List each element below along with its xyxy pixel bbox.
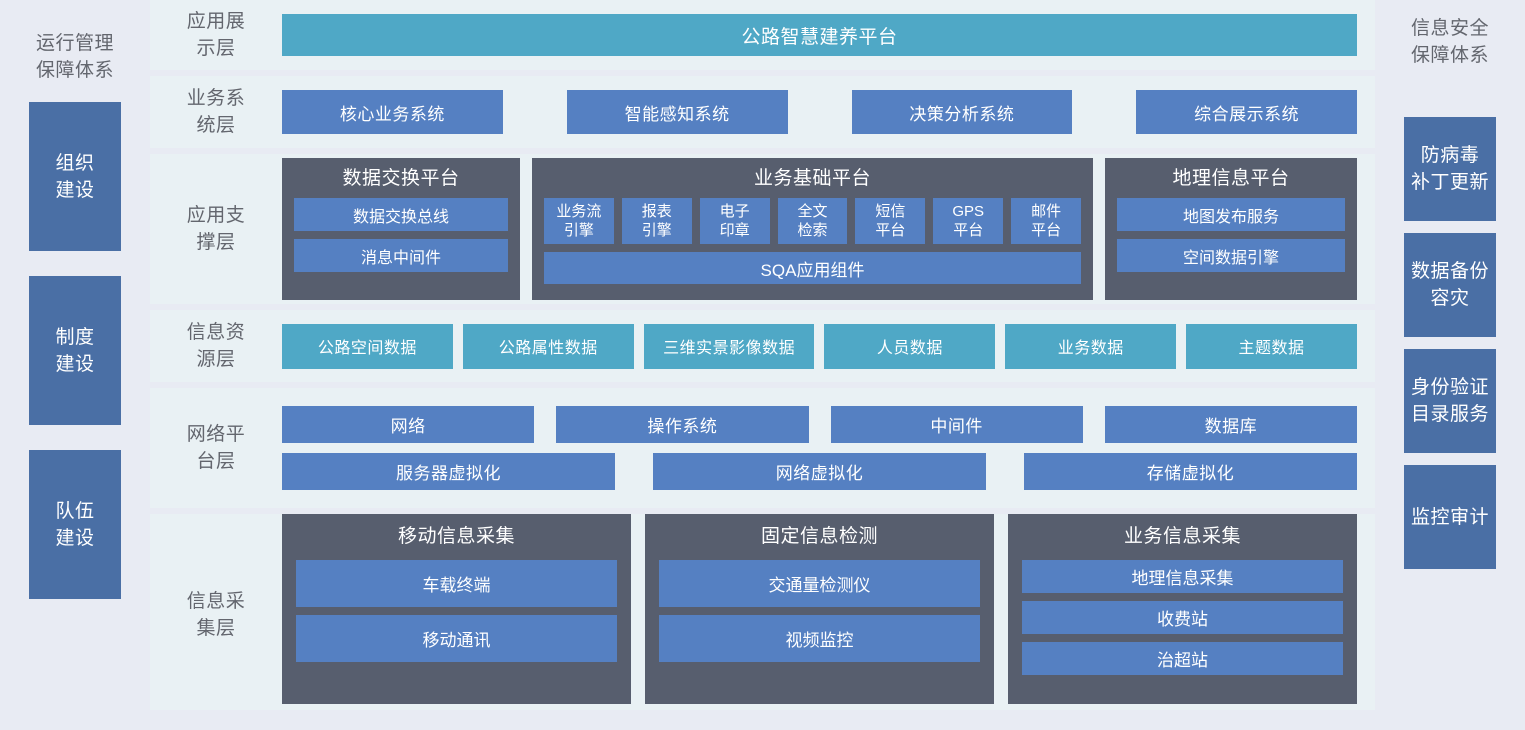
overload-control-station[interactable]: 治超站 [1022,642,1343,675]
spatial-data-engine[interactable]: 空间数据引擎 [1117,239,1345,272]
engine-electronic-seal[interactable]: 电子 印章 [700,198,770,244]
layer-label-line1: 网络平 [150,421,282,448]
layer-label-line1: 信息采 [150,588,282,615]
left-box-organization[interactable]: 组织 建设 [29,102,121,251]
resource-theme-data[interactable]: 主题数据 [1186,324,1357,369]
layer-label-line2: 集层 [150,615,282,642]
video-surveillance[interactable]: 视频监控 [659,615,980,662]
layer-label-line1: 应用展 [150,8,282,35]
business-system-decision[interactable]: 决策分析系统 [852,90,1073,134]
engine-mail-platform[interactable]: 邮件 平台 [1011,198,1081,244]
panel-fixed-detection: 固定信息检测 交通量检测仪 视频监控 [645,514,994,704]
panel-title-fixed-detection: 固定信息检测 [659,524,980,550]
engine-workflow[interactable]: 业务流 引擎 [544,198,614,244]
left-support-column: 运行管理 保障体系 组织 建设 制度 建设 队伍 建设 [0,0,150,730]
engine-electronic-seal-line2: 印章 [720,221,750,240]
application-display-row: 公路智慧建养平台 [282,14,1357,56]
data-exchange-bus[interactable]: 数据交换总线 [294,198,508,231]
layer-label-line2: 统层 [150,112,282,139]
business-system-sensing[interactable]: 智能感知系统 [567,90,788,134]
engine-fulltext-search[interactable]: 全文 检索 [778,198,848,244]
left-box-team-line1: 队伍 [55,498,94,525]
panel-business-base-platform: 业务基础平台 业务流 引擎 报表 引擎 [532,158,1093,300]
right-box-backup-disaster-recovery-line1: 数据备份 [1411,258,1489,285]
right-box-antivirus-patch-line1: 防病毒 [1411,142,1489,169]
panel-business-collection: 业务信息采集 地理信息采集 收费站 治超站 [1008,514,1357,704]
layer-label-business-system: 业务系 统层 [150,85,282,139]
layer-network-platform: 网络平 台层 网络 操作系统 中间件 数据库 服务器虚拟化 网络虚拟化 存储虚拟… [150,388,1375,508]
network-platform-row-1: 网络 操作系统 中间件 数据库 [282,406,1357,443]
panel-data-exchange-platform: 数据交换平台 数据交换总线 消息中间件 [282,158,520,300]
engine-fulltext-search-line1: 全文 [798,202,828,221]
engine-gps-platform[interactable]: GPS 平台 [933,198,1003,244]
panel-title-business-base: 业务基础平台 [544,166,1081,192]
panel-title-gis: 地理信息平台 [1117,166,1345,192]
gis-items: 地图发布服务 空间数据引擎 [1117,198,1345,288]
layer-label-line1: 信息资 [150,319,282,346]
network-item-middleware[interactable]: 中间件 [831,406,1083,443]
layer-body-application-display: 公路智慧建养平台 [282,14,1375,56]
business-system-core[interactable]: 核心业务系统 [282,90,503,134]
resource-business-data[interactable]: 业务数据 [1005,324,1176,369]
geographic-information-collection[interactable]: 地理信息采集 [1022,560,1343,593]
engine-fulltext-search-line2: 检索 [798,221,828,240]
business-base-engines: 业务流 引擎 报表 引擎 [544,198,1081,244]
engine-report-line2: 引擎 [642,221,672,240]
panel-title-data-exchange: 数据交换平台 [294,166,508,192]
engine-report-line1: 报表 [642,202,672,221]
message-middleware[interactable]: 消息中间件 [294,239,508,272]
left-box-organization-line2: 建设 [55,177,94,204]
right-box-antivirus-patch[interactable]: 防病毒 补丁更新 [1404,117,1496,221]
engine-gps-platform-line2: 平台 [952,221,984,240]
right-column-title: 信息安全 保障体系 [1411,15,1489,69]
engine-sms-platform[interactable]: 短信 平台 [855,198,925,244]
left-box-team-line2: 建设 [55,525,94,552]
left-column-title-line2: 保障体系 [36,57,114,84]
network-item-operating-system[interactable]: 操作系统 [556,406,808,443]
data-exchange-items: 数据交换总线 消息中间件 [294,198,508,288]
layer-label-line2: 撑层 [150,229,282,256]
network-item-storage-virtualization[interactable]: 存储虚拟化 [1024,453,1357,490]
right-box-identity-directory[interactable]: 身份验证 目录服务 [1404,349,1496,453]
network-item-database[interactable]: 数据库 [1105,406,1357,443]
engine-sms-platform-line1: 短信 [875,202,905,221]
business-system-display[interactable]: 综合展示系统 [1136,90,1357,134]
architecture-diagram: 运行管理 保障体系 组织 建设 制度 建设 队伍 建设 [0,0,1525,730]
right-box-monitoring-audit[interactable]: 监控审计 [1404,465,1496,569]
layer-body-network-platform: 网络 操作系统 中间件 数据库 服务器虚拟化 网络虚拟化 存储虚拟化 [282,406,1375,490]
network-item-network[interactable]: 网络 [282,406,534,443]
right-box-antivirus-patch-line2: 补丁更新 [1411,169,1489,196]
layer-business-system: 业务系 统层 核心业务系统 智能感知系统 决策分析系统 综合展示系统 [150,76,1375,148]
application-support-panels: 数据交换平台 数据交换总线 消息中间件 业务基础平台 业务流 [282,158,1357,300]
left-box-team[interactable]: 队伍 建设 [29,450,121,599]
right-security-column: 信息安全 保障体系 防病毒 补丁更新 数据备份 容灾 身份验证 目录服务 监控审… [1375,0,1525,730]
layer-information-resource: 信息资 源层 公路空间数据 公路属性数据 三维实景影像数据 人员数据 业务数据 … [150,310,1375,382]
map-publish-service[interactable]: 地图发布服务 [1117,198,1345,231]
engine-mail-platform-line1: 邮件 [1031,202,1061,221]
layer-label-information-resource: 信息资 源层 [150,319,282,373]
layer-label-line2: 示层 [150,35,282,62]
business-system-row: 核心业务系统 智能感知系统 决策分析系统 综合展示系统 [282,90,1357,134]
layer-body-information-collection: 移动信息采集 车载终端 移动通讯 固定信息检测 交通量检测仪 视频监控 [282,514,1375,704]
panel-title-business-collection: 业务信息采集 [1022,524,1343,550]
left-box-institution-line1: 制度 [55,324,94,351]
layer-label-application-support: 应用支 撑层 [150,202,282,256]
left-column-title: 运行管理 保障体系 [36,30,114,84]
left-box-institution-line2: 建设 [55,351,94,378]
right-box-backup-disaster-recovery-line2: 容灾 [1411,285,1489,312]
layer-label-network-platform: 网络平 台层 [150,421,282,475]
engine-report[interactable]: 报表 引擎 [622,198,692,244]
layer-application-support: 应用支 撑层 数据交换平台 数据交换总线 消息中间件 业务基础平台 [150,154,1375,304]
right-box-identity-directory-line1: 身份验证 [1411,374,1489,401]
layer-label-application-display: 应用展 示层 [150,8,282,62]
layer-label-line1: 应用支 [150,202,282,229]
layer-body-application-support: 数据交换平台 数据交换总线 消息中间件 业务基础平台 业务流 [282,158,1375,300]
panel-title-mobile-collection: 移动信息采集 [296,524,617,550]
layer-label-information-collection: 信息采 集层 [150,514,282,642]
traffic-volume-detector[interactable]: 交通量检测仪 [659,560,980,607]
engine-mail-platform-line2: 平台 [1031,221,1061,240]
business-collection-items: 地理信息采集 收费站 治超站 [1022,560,1343,690]
information-collection-panels: 移动信息采集 车载终端 移动通讯 固定信息检测 交通量检测仪 视频监控 [282,514,1357,704]
network-platform-row-2: 服务器虚拟化 网络虚拟化 存储虚拟化 [282,453,1357,490]
engine-gps-platform-line1: GPS [952,202,984,221]
left-box-organization-line1: 组织 [55,150,94,177]
resource-highway-spatial-data[interactable]: 公路空间数据 [282,324,453,369]
right-box-backup-disaster-recovery[interactable]: 数据备份 容灾 [1404,233,1496,337]
mobile-collection-items: 车载终端 移动通讯 [296,560,617,690]
engine-workflow-line2: 引擎 [556,221,601,240]
layer-application-display: 应用展 示层 公路智慧建养平台 [150,0,1375,70]
panel-mobile-collection: 移动信息采集 车载终端 移动通讯 [282,514,631,704]
resource-highway-attribute-data[interactable]: 公路属性数据 [463,324,634,369]
platform-bar-smart-highway[interactable]: 公路智慧建养平台 [282,14,1357,56]
layer-label-line2: 台层 [150,448,282,475]
left-column-title-line1: 运行管理 [36,30,114,57]
right-column-title-line1: 信息安全 [1411,15,1489,42]
left-box-institution[interactable]: 制度 建设 [29,276,121,425]
layer-label-line2: 源层 [150,346,282,373]
fixed-detection-items: 交通量检测仪 视频监控 [659,560,980,690]
layer-body-business-system: 核心业务系统 智能感知系统 决策分析系统 综合展示系统 [282,90,1375,134]
layers-container: 应用展 示层 公路智慧建养平台 业务系 统层 核心业务系统 智能感知系统 决策分… [150,0,1375,730]
resource-3d-image-data[interactable]: 三维实景影像数据 [644,324,815,369]
right-column-title-line2: 保障体系 [1411,42,1489,69]
engine-workflow-line1: 业务流 [556,202,601,221]
panel-gis-platform: 地理信息平台 地图发布服务 空间数据引擎 [1105,158,1357,300]
toll-station[interactable]: 收费站 [1022,601,1343,634]
right-box-identity-directory-line2: 目录服务 [1411,401,1489,428]
resource-personnel-data[interactable]: 人员数据 [824,324,995,369]
layer-label-line1: 业务系 [150,85,282,112]
engine-sms-platform-line2: 平台 [875,221,905,240]
layer-information-collection: 信息采 集层 移动信息采集 车载终端 移动通讯 固定信息检测 [150,514,1375,710]
mobile-communication[interactable]: 移动通讯 [296,615,617,662]
sqa-application-component[interactable]: SQA应用组件 [544,252,1081,284]
information-resource-row: 公路空间数据 公路属性数据 三维实景影像数据 人员数据 业务数据 主题数据 [282,324,1357,369]
layer-body-information-resource: 公路空间数据 公路属性数据 三维实景影像数据 人员数据 业务数据 主题数据 [282,324,1375,369]
engine-electronic-seal-line1: 电子 [720,202,750,221]
vehicle-terminal[interactable]: 车载终端 [296,560,617,607]
right-box-monitoring-audit-line1: 监控审计 [1411,504,1489,531]
network-item-server-virtualization[interactable]: 服务器虚拟化 [282,453,615,490]
network-item-network-virtualization[interactable]: 网络虚拟化 [653,453,986,490]
